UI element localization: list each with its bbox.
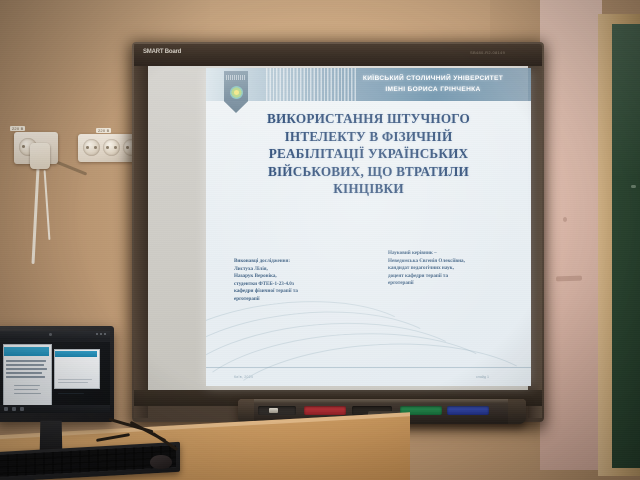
taskbar-app-icon-2[interactable] bbox=[20, 407, 24, 411]
board-model-code: SB480-R2-08149 bbox=[470, 50, 505, 55]
outline-pane-header bbox=[4, 347, 49, 356]
app-titlebar[interactable] bbox=[0, 331, 110, 338]
board-sheen bbox=[148, 66, 528, 390]
outline-text-4 bbox=[6, 372, 42, 374]
taskbar[interactable] bbox=[0, 405, 110, 413]
start-icon[interactable] bbox=[4, 407, 8, 411]
board-bezel-top bbox=[134, 44, 542, 66]
wall-spot bbox=[563, 217, 567, 222]
maximize-icon[interactable] bbox=[100, 333, 102, 335]
outline-text-3 bbox=[6, 368, 47, 370]
power-socket-3[interactable] bbox=[103, 139, 120, 156]
tray-button-a[interactable] bbox=[269, 408, 278, 413]
socket-label-right: 220 B bbox=[96, 128, 111, 133]
outline-text-8 bbox=[14, 393, 41, 394]
editor-caption bbox=[58, 393, 84, 394]
power-socket-2[interactable] bbox=[83, 139, 100, 156]
plug-in-socket[interactable] bbox=[30, 143, 50, 169]
tray-end-right bbox=[508, 399, 526, 424]
taskbar-app-icon-1[interactable] bbox=[12, 407, 16, 411]
chalkboard-glare bbox=[612, 24, 640, 468]
editor-wave-1 bbox=[58, 379, 92, 380]
smart-logo-text: SMART Board bbox=[143, 49, 181, 55]
wall-panel-right bbox=[540, 0, 602, 470]
editor-wave-2 bbox=[58, 382, 88, 383]
red-pen-slot[interactable] bbox=[304, 406, 346, 415]
mouse[interactable] bbox=[150, 455, 172, 469]
outline-text-5 bbox=[6, 376, 45, 378]
outline-text-2 bbox=[6, 364, 44, 366]
pen-tray-lip bbox=[238, 399, 526, 403]
smart-board-logo: SMART Board bbox=[143, 49, 181, 55]
outline-text-6 bbox=[14, 385, 40, 386]
outline-text-7 bbox=[14, 389, 38, 390]
classroom-photo: 220 B 220 B КИЇВСЬКИЙ СТОЛИЧНИЙ УНІВЕРСИ… bbox=[0, 0, 640, 480]
chalk-smudge bbox=[631, 185, 636, 188]
wall-scuff-mark bbox=[556, 276, 582, 282]
editor-pane-header bbox=[55, 351, 97, 357]
board-bezel-left bbox=[134, 44, 148, 418]
blue-pen-slot[interactable] bbox=[447, 406, 489, 415]
socket-label-left: 220 B bbox=[10, 126, 25, 131]
app-ribbon[interactable] bbox=[0, 338, 110, 342]
outline-text-1 bbox=[6, 360, 46, 362]
monitor-screen[interactable] bbox=[0, 331, 110, 413]
close-icon[interactable] bbox=[104, 333, 106, 335]
minimize-icon[interactable] bbox=[96, 333, 98, 335]
webcam-icon bbox=[49, 333, 52, 336]
